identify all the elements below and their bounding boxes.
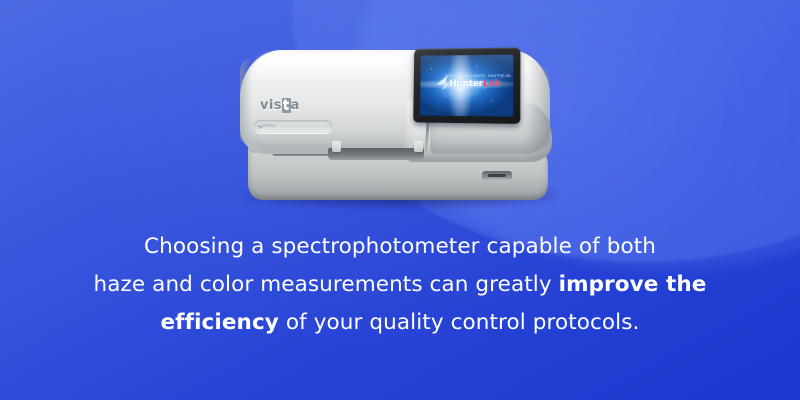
- device-sample-door[interactable]: [328, 148, 424, 160]
- spectrophotometer-device: vista Vista BRILLIANT. ACCURATE. HUNTERL…: [232, 42, 562, 210]
- device-left-edge-shade: [240, 58, 252, 144]
- caption-line-2-regular: haze and color measurements can greatly: [94, 272, 559, 297]
- vista-wordmark-accent: t: [282, 98, 291, 113]
- caption-line-2-bold: improve the: [559, 272, 707, 297]
- caption-line-3-bold: efficiency: [161, 310, 279, 335]
- device-base-port: [482, 171, 512, 180]
- device-lid-hinge-right: [414, 141, 423, 152]
- caption-line-1: Choosing a spectrophotometer capable of …: [0, 228, 800, 266]
- device-touchscreen-bezel[interactable]: BRILLIANT. ACCURATE. HUNTERLAB. HunterLa…: [413, 47, 520, 123]
- caption-line-2: haze and color measurements can greatly …: [0, 266, 800, 304]
- device-badge: Vista: [254, 120, 332, 133]
- caption-line-3-regular: of your quality control protocols.: [279, 310, 640, 335]
- caption-block: Choosing a spectrophotometer capable of …: [0, 228, 800, 342]
- promo-banner: vista Vista BRILLIANT. ACCURATE. HUNTERL…: [0, 0, 800, 400]
- vista-wordmark: vista: [260, 99, 300, 112]
- screen-glass-gloss: [420, 55, 513, 83]
- device-lid-hinge-left: [332, 141, 341, 152]
- device-touchscreen[interactable]: BRILLIANT. ACCURATE. HUNTERLAB. HunterLa…: [420, 55, 513, 117]
- device-left-highlight: [254, 54, 404, 82]
- caption-line-3: efficiency of your quality control proto…: [0, 304, 800, 342]
- device-badge-label: Vista: [262, 122, 328, 131]
